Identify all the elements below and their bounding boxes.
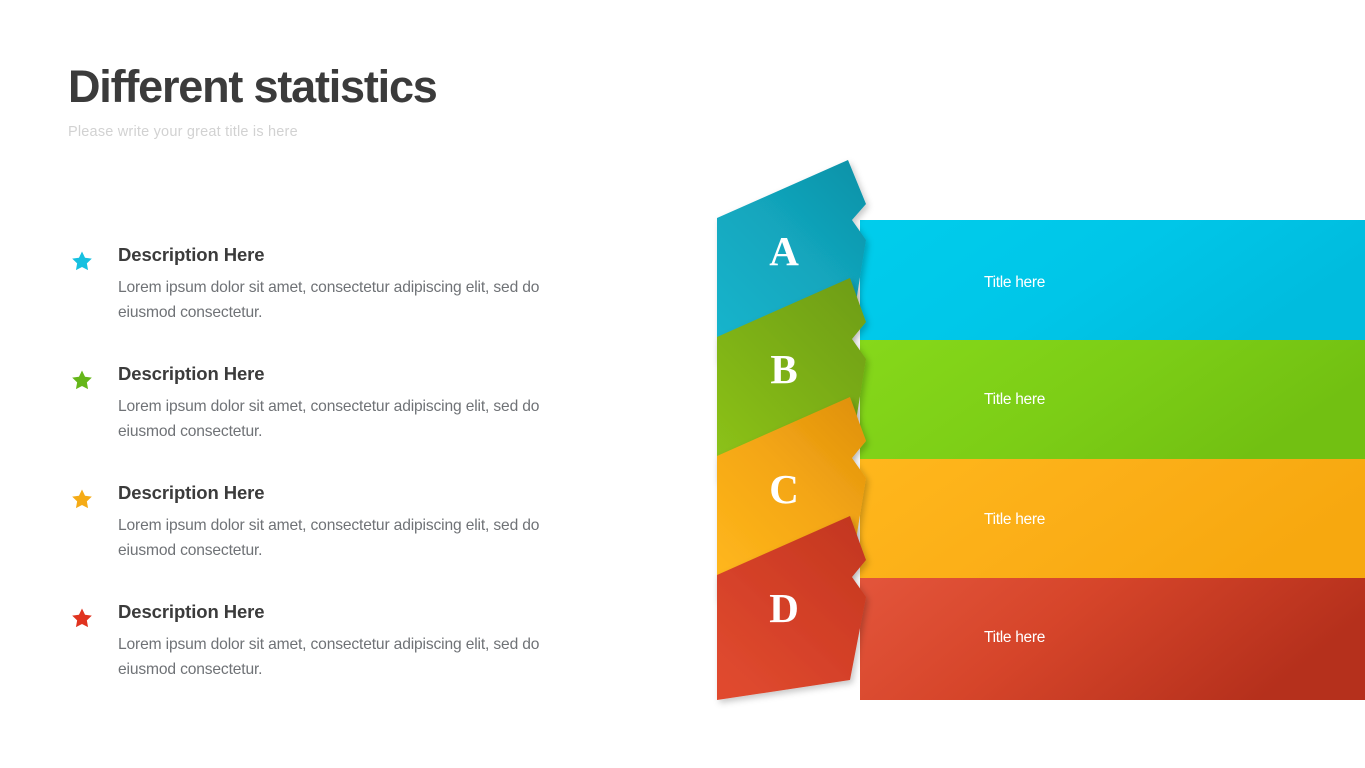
funnel-bar-d[interactable] (860, 578, 1365, 700)
page-subtitle: Please write your great title is here (68, 124, 668, 140)
funnel-letter-b: B (770, 346, 797, 392)
funnel-bar-label-d: Title here (984, 629, 1045, 646)
funnel-letter-a: A (769, 228, 799, 274)
list-item-body: Lorem ipsum dolor sit amet, consectetur … (118, 275, 588, 326)
star-icon (71, 607, 93, 629)
star-icon (71, 369, 93, 391)
list-item-body: Lorem ipsum dolor sit amet, consectetur … (118, 632, 588, 683)
list-item-body: Lorem ipsum dolor sit amet, consectetur … (118, 394, 588, 445)
list-item[interactable]: Description Here Lorem ipsum dolor sit a… (68, 600, 613, 719)
list-item-body: Lorem ipsum dolor sit amet, consectetur … (118, 513, 588, 564)
page-title: Different statistics (68, 62, 668, 112)
list-item-heading: Description Here (118, 362, 613, 387)
list-item[interactable]: Description Here Lorem ipsum dolor sit a… (68, 362, 613, 481)
list-item[interactable]: Description Here Lorem ipsum dolor sit a… (68, 243, 613, 362)
star-icon (71, 250, 93, 272)
slide-header: Different statistics Please write your g… (68, 62, 668, 140)
slide-canvas: Different statistics Please write your g… (0, 0, 1365, 768)
star-icon (71, 488, 93, 510)
list-item-heading: Description Here (118, 243, 613, 268)
description-list: Description Here Lorem ipsum dolor sit a… (68, 243, 613, 719)
list-item-heading: Description Here (118, 481, 613, 506)
funnel-bar-label-b: Title here (984, 391, 1045, 408)
funnel-bar-label-c: Title here (984, 511, 1045, 528)
funnel-chart: A Title here B Title here C Title here (700, 140, 1365, 715)
funnel-bar-b[interactable] (860, 340, 1365, 460)
funnel-bar-a[interactable] (860, 220, 1365, 340)
list-item-heading: Description Here (118, 600, 613, 625)
funnel-bar-c[interactable] (860, 459, 1365, 579)
funnel-bar-label-a: Title here (984, 274, 1045, 291)
list-item[interactable]: Description Here Lorem ipsum dolor sit a… (68, 481, 613, 600)
funnel-letter-c: C (769, 466, 799, 512)
funnel-letter-d: D (769, 585, 799, 631)
